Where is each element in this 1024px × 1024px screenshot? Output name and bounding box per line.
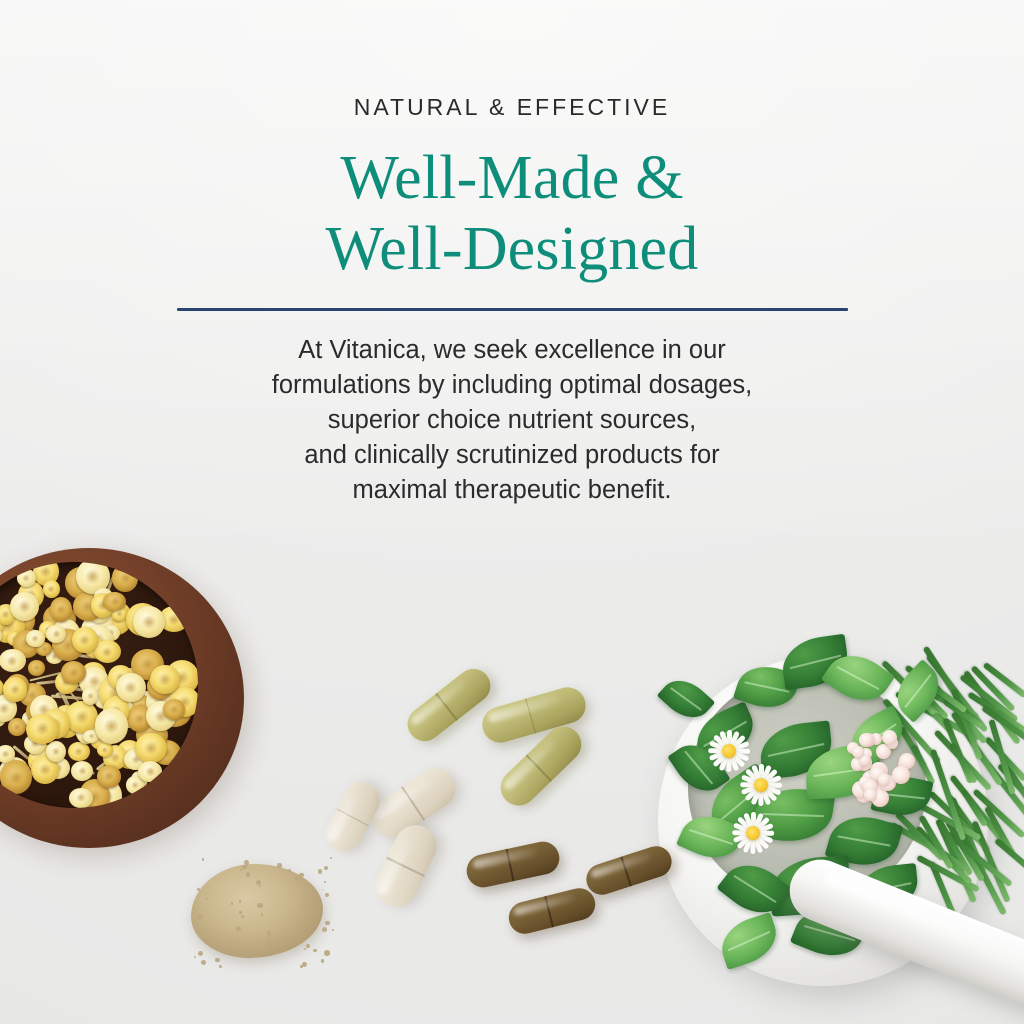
page-title: Well-Made & Well-Designed — [0, 143, 1024, 284]
chamomile-floret — [97, 743, 113, 757]
chamomile-floret — [69, 788, 93, 808]
powder-speck — [267, 931, 271, 935]
flower-bud — [892, 766, 910, 784]
chamomile-floret — [150, 665, 180, 695]
chamomile-floret — [72, 627, 98, 654]
chamomile-florets — [0, 562, 198, 808]
body-line-3: superior choice nutrient sources, — [202, 403, 822, 438]
chamomile-floret — [26, 714, 60, 744]
powder-speck — [324, 881, 326, 883]
capsule-seam — [336, 809, 368, 827]
chamomile-floret — [26, 630, 44, 646]
chamomile-floret — [46, 741, 66, 762]
chamomile-floret — [17, 569, 36, 586]
body-line-5: maximal therapeutic benefit. — [202, 473, 822, 508]
daisy-flower — [738, 762, 784, 808]
flower-bud — [852, 746, 864, 758]
chamomile-floret — [50, 597, 72, 622]
promo-canvas: NATURAL & EFFECTIVE Well-Made & Well-Des… — [0, 0, 1024, 1024]
powder-speck — [215, 958, 220, 963]
capsule-seam — [401, 787, 425, 821]
chamomile-floret — [43, 580, 60, 598]
powder-speck — [295, 876, 298, 879]
powder-speck — [239, 911, 242, 914]
capsule-seam — [621, 856, 632, 886]
powder-speck — [324, 866, 328, 870]
powder-speck — [244, 860, 249, 865]
chamomile-floret — [138, 761, 162, 782]
chamomile-floret — [94, 640, 121, 663]
powder-speck — [322, 927, 327, 932]
daisy-flower — [730, 810, 776, 856]
leaf-vein — [837, 666, 880, 690]
capsule-seam — [506, 849, 514, 882]
powder-speck — [194, 956, 196, 958]
headline-block: NATURAL & EFFECTIVE Well-Made & Well-Des… — [0, 96, 1024, 508]
powder-speck — [231, 902, 233, 904]
powder-speck — [219, 965, 222, 968]
powder-mound — [191, 864, 323, 958]
chamomile-floret — [28, 660, 46, 676]
powder-speck — [306, 944, 310, 948]
divider-rule — [177, 308, 848, 311]
chamomile-floret — [71, 761, 93, 781]
powder-speck — [313, 949, 317, 953]
capsule-seam — [436, 693, 458, 721]
flower-bud — [878, 773, 890, 785]
chamomile-floret — [97, 765, 122, 788]
powder-speck — [202, 858, 204, 860]
capsule-brown — [505, 885, 598, 937]
headline-line-2: Well-Designed — [0, 214, 1024, 285]
chamomile-floret — [112, 564, 138, 591]
capsule-seam — [545, 896, 554, 927]
capsule-seam — [525, 698, 536, 733]
flower-bud — [882, 730, 897, 745]
powder-speck — [277, 863, 282, 868]
powder-speck — [257, 903, 262, 908]
powder-speck — [304, 948, 306, 950]
powder-speck — [299, 873, 303, 877]
body-line-4: and clinically scrutinized products for — [202, 438, 822, 473]
powder-speck — [318, 869, 323, 874]
daisy-center — [754, 778, 768, 792]
powder-speck — [241, 915, 244, 918]
powder-speck — [259, 885, 261, 887]
powder-speck — [324, 950, 329, 955]
bowl-interior — [0, 562, 198, 808]
powder-speck — [317, 908, 319, 910]
chamomile-floret — [82, 687, 98, 705]
leaf-vein — [689, 829, 734, 845]
pink-flower-cluster — [840, 730, 926, 810]
capsule-seam — [386, 857, 424, 877]
body-line-2: formulations by including optimal dosage… — [202, 368, 822, 403]
powder-speck — [246, 872, 250, 876]
powder-speck — [239, 900, 241, 902]
chamomile-floret — [68, 742, 90, 762]
powder-speck — [322, 889, 324, 891]
capsule-brown — [464, 839, 563, 891]
mortar-and-pestle — [642, 620, 1024, 1024]
chamomile-floret — [163, 699, 185, 720]
chamomile-floret — [133, 606, 165, 638]
divider-wrap — [177, 308, 848, 311]
chamomile-bowl — [0, 548, 244, 848]
leaf-vein — [905, 674, 932, 708]
chamomile-floret — [0, 760, 32, 794]
flower-bud — [859, 733, 873, 747]
leaf-vein — [670, 687, 702, 711]
daisy-center — [722, 744, 736, 758]
powder-speck — [325, 921, 329, 925]
flower-bud — [864, 788, 877, 801]
daisy-center — [746, 826, 760, 840]
chamomile-floret — [116, 673, 146, 702]
body-line-1: At Vitanica, we seek excellence in our — [202, 333, 822, 368]
capsule-seam — [526, 755, 552, 782]
eyebrow-text: NATURAL & EFFECTIVE — [0, 96, 1024, 119]
capsule-olive — [401, 662, 498, 748]
powder-speck — [330, 857, 332, 859]
powder-speck — [201, 960, 206, 965]
chamomile-floret — [103, 592, 126, 611]
leaf-vein — [734, 875, 777, 903]
chamomile-floret — [0, 649, 26, 672]
leaf-vein — [768, 743, 825, 756]
powder-speck — [332, 929, 334, 931]
powder-speck — [321, 959, 325, 963]
powder-speck — [198, 951, 203, 956]
chamomile-floret — [8, 718, 26, 737]
leaf-vein — [727, 931, 770, 951]
powder-speck — [325, 893, 329, 897]
herbal-powder-pile — [183, 856, 333, 966]
powder-speck — [242, 865, 247, 870]
chamomile-floret — [95, 708, 128, 743]
powder-speck — [302, 962, 307, 967]
body-paragraph: At Vitanica, we seek excellence in our f… — [202, 333, 822, 508]
leaf-vein — [744, 681, 790, 692]
leaf-vein — [837, 835, 891, 846]
chamomile-floret — [3, 677, 27, 701]
headline-line-1: Well-Made & — [0, 143, 1024, 214]
